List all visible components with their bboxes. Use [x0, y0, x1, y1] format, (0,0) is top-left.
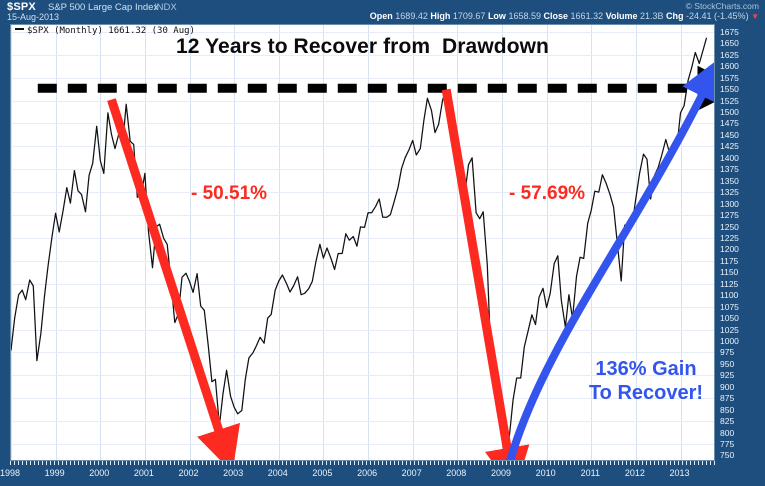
y-axis-tick-label: 975 — [720, 348, 734, 356]
y-axis-tick-label: 1600 — [720, 62, 739, 70]
y-axis-tick-label: 825 — [720, 417, 734, 425]
y-axis-tick-label: 775 — [720, 440, 734, 448]
y-axis-tick-label: 800 — [720, 429, 734, 437]
x-axis-tick-label: 2013 — [669, 468, 689, 478]
legend-line-icon — [15, 28, 24, 30]
y-axis-tick-label: 1075 — [720, 303, 739, 311]
stockcharts-watermark: © StockCharts.com — [686, 1, 759, 11]
recovery-gain-label: 136% Gain To Recover! — [556, 358, 715, 405]
close-label: Close — [544, 11, 569, 21]
close-value: 1661.32 — [571, 11, 604, 21]
symbol-description: S&P 500 Large Cap Index — [48, 2, 158, 13]
change-down-arrow-icon: ▼ — [751, 12, 759, 21]
y-axis-tick-label: 1625 — [720, 51, 739, 59]
y-axis-tick-label: 1425 — [720, 142, 739, 150]
y-axis-price-scale: 1675165016251600157515501525150014751450… — [716, 24, 765, 461]
y-axis-tick-label: 1400 — [720, 154, 739, 162]
x-axis-tick-label: 2008 — [446, 468, 466, 478]
drawdown-arrow-2000 — [111, 100, 223, 444]
y-axis-tick-label: 1025 — [720, 326, 739, 334]
x-axis-tick-label: 2011 — [581, 468, 600, 478]
x-axis-tick-label: 2009 — [491, 468, 511, 478]
y-axis-tick-label: 900 — [720, 383, 734, 391]
drawdown-1-label: - 50.51% — [191, 183, 267, 205]
volume-value: 21.3B — [640, 11, 664, 21]
y-axis-tick-label: 1475 — [720, 119, 739, 127]
low-value: 1658.59 — [508, 11, 541, 21]
x-axis-tick-label: 2006 — [357, 468, 377, 478]
y-axis-tick-label: 1500 — [720, 108, 739, 116]
y-axis-tick-label: 1175 — [720, 257, 738, 265]
y-axis-tick-label: 1050 — [720, 314, 739, 322]
y-axis-tick-label: 1000 — [720, 337, 739, 345]
y-axis-tick-label: 1325 — [720, 188, 739, 196]
open-value: 1689.42 — [395, 11, 428, 21]
open-label: Open — [370, 11, 393, 21]
gain-line-2: To Recover! — [556, 382, 715, 406]
quote-bar: Open 1689.42 High 1709.67 Low 1658.59 Cl… — [370, 11, 759, 21]
y-axis-tick-label: 1550 — [720, 85, 739, 93]
y-axis-tick-label: 1125 — [720, 280, 738, 288]
y-axis-tick-label: 750 — [720, 451, 734, 459]
y-axis-tick-label: 1675 — [720, 28, 739, 36]
y-axis-tick-label: 925 — [720, 371, 734, 379]
y-axis-tick-label: 1650 — [720, 39, 739, 47]
high-value: 1709.67 — [453, 11, 486, 21]
x-axis-tick-label: 2005 — [312, 468, 332, 478]
change-label: Chg — [666, 11, 684, 21]
y-axis-tick-label: 950 — [720, 360, 734, 368]
y-axis-tick-label: 1300 — [720, 200, 739, 208]
quote-date: 15-Aug-2013 — [7, 12, 59, 22]
x-axis-tick-label: 2000 — [89, 468, 109, 478]
x-axis-tick-label: 2001 — [134, 468, 154, 478]
y-axis-tick-label: 1225 — [720, 234, 739, 242]
y-axis-tick-label: 1100 — [720, 291, 738, 299]
symbol-exchange: INDX — [154, 2, 177, 13]
gain-line-1: 136% Gain — [556, 358, 715, 382]
y-axis-tick-label: 1450 — [720, 131, 739, 139]
x-axis-tick-label: 2003 — [223, 468, 243, 478]
high-label: High — [430, 11, 450, 21]
stockcharts-chart-page: $SPX S&P 500 Large Cap Index INDX 15-Aug… — [0, 0, 765, 486]
y-axis-tick-label: 1525 — [720, 97, 739, 105]
y-axis-tick-label: 1275 — [720, 211, 739, 219]
x-axis-time-scale: 1998199920002001200220032004200520062007… — [10, 462, 715, 486]
y-axis-tick-label: 1350 — [720, 177, 739, 185]
y-axis-tick-label: 1375 — [720, 165, 739, 173]
y-axis-tick-label: 850 — [720, 406, 734, 414]
price-plot-area[interactable]: $SPX (Monthly) 1661.32 (30 Aug) 12 Years… — [10, 24, 715, 461]
x-axis-tick-label: 2007 — [402, 468, 422, 478]
y-axis-tick-label: 1575 — [720, 74, 739, 82]
drawdown-2-label: - 57.69% — [509, 183, 585, 205]
x-axis-tick-label: 2002 — [178, 468, 198, 478]
x-axis-tick-label: 1998 — [0, 468, 20, 478]
y-axis-tick-label: 1200 — [720, 245, 739, 253]
volume-label: Volume — [606, 11, 638, 21]
y-axis-tick-label: 875 — [720, 394, 734, 402]
x-axis-tick-label: 1999 — [45, 468, 65, 478]
change-value: -24.41 (-1.45%) — [686, 11, 749, 21]
drawdown-arrow-2008 — [446, 90, 509, 460]
x-axis-tick-label: 2010 — [536, 468, 556, 478]
chart-header: $SPX S&P 500 Large Cap Index INDX 15-Aug… — [0, 0, 765, 24]
x-axis-tick-label: 2012 — [625, 468, 645, 478]
chart-title-annotation: 12 Years to Recover from Drawdown — [11, 35, 714, 59]
y-axis-tick-label: 1150 — [720, 268, 738, 276]
low-label: Low — [488, 11, 506, 21]
x-axis-tick-label: 2004 — [268, 468, 288, 478]
y-axis-tick-label: 1250 — [720, 223, 739, 231]
